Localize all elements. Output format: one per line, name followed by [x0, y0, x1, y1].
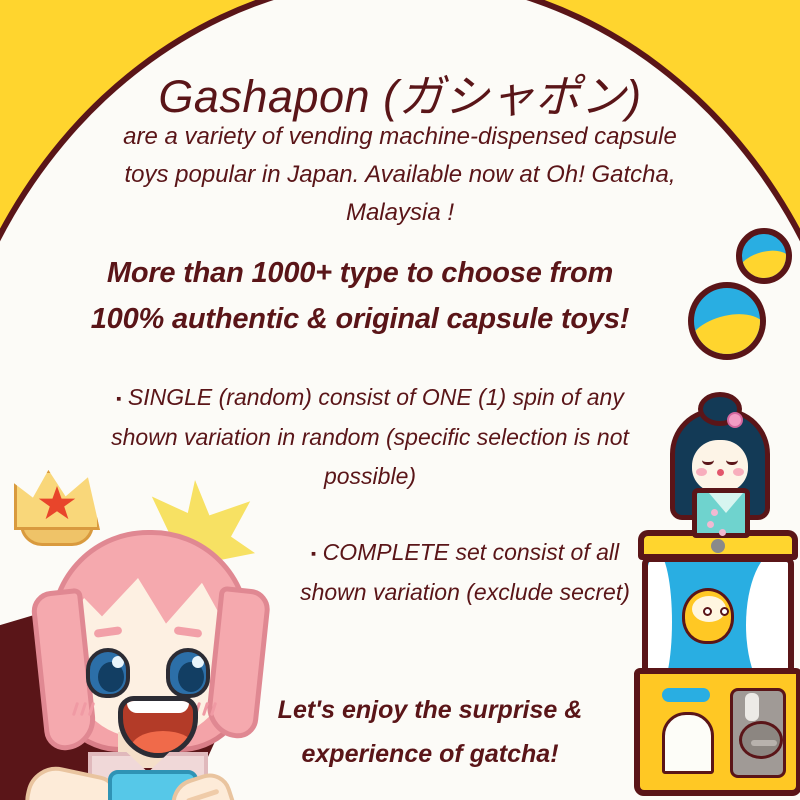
- bullet-single-block: ▪ SINGLE (random) consist of ONE (1) spi…: [110, 378, 630, 496]
- headline-line-2: 100% authentic & original capsule toys!: [40, 296, 680, 342]
- bullet-marker-icon: ▪: [311, 545, 316, 562]
- gashapon-promo-poster: Gashapon (ガシャポン) are a variety of vendin…: [0, 0, 800, 800]
- bullet-single-text: SINGLE (random) consist of ONE (1) spin …: [111, 384, 629, 489]
- headline-block: More than 1000+ type to choose from 100%…: [40, 250, 680, 342]
- outro-line-1: Let's enjoy the surprise &: [230, 688, 630, 732]
- intro-paragraph: are a variety of vending machine-dispens…: [100, 118, 700, 232]
- headline-line-1: More than 1000+ type to choose from: [40, 250, 680, 296]
- bullet-complete-text: COMPLETE set consist of all shown variat…: [300, 539, 630, 605]
- bullet-complete-block: ▪ COMPLETE set consist of all shown vari…: [280, 533, 650, 612]
- page-title: Gashapon (ガシャポン): [0, 60, 800, 125]
- bullet-marker-icon: ▪: [116, 390, 121, 407]
- outro-block: Let's enjoy the surprise & experience of…: [230, 688, 630, 776]
- poster-text-content: Gashapon (ガシャポン) are a variety of vendin…: [0, 0, 800, 800]
- outro-line-2: experience of gatcha!: [230, 732, 630, 776]
